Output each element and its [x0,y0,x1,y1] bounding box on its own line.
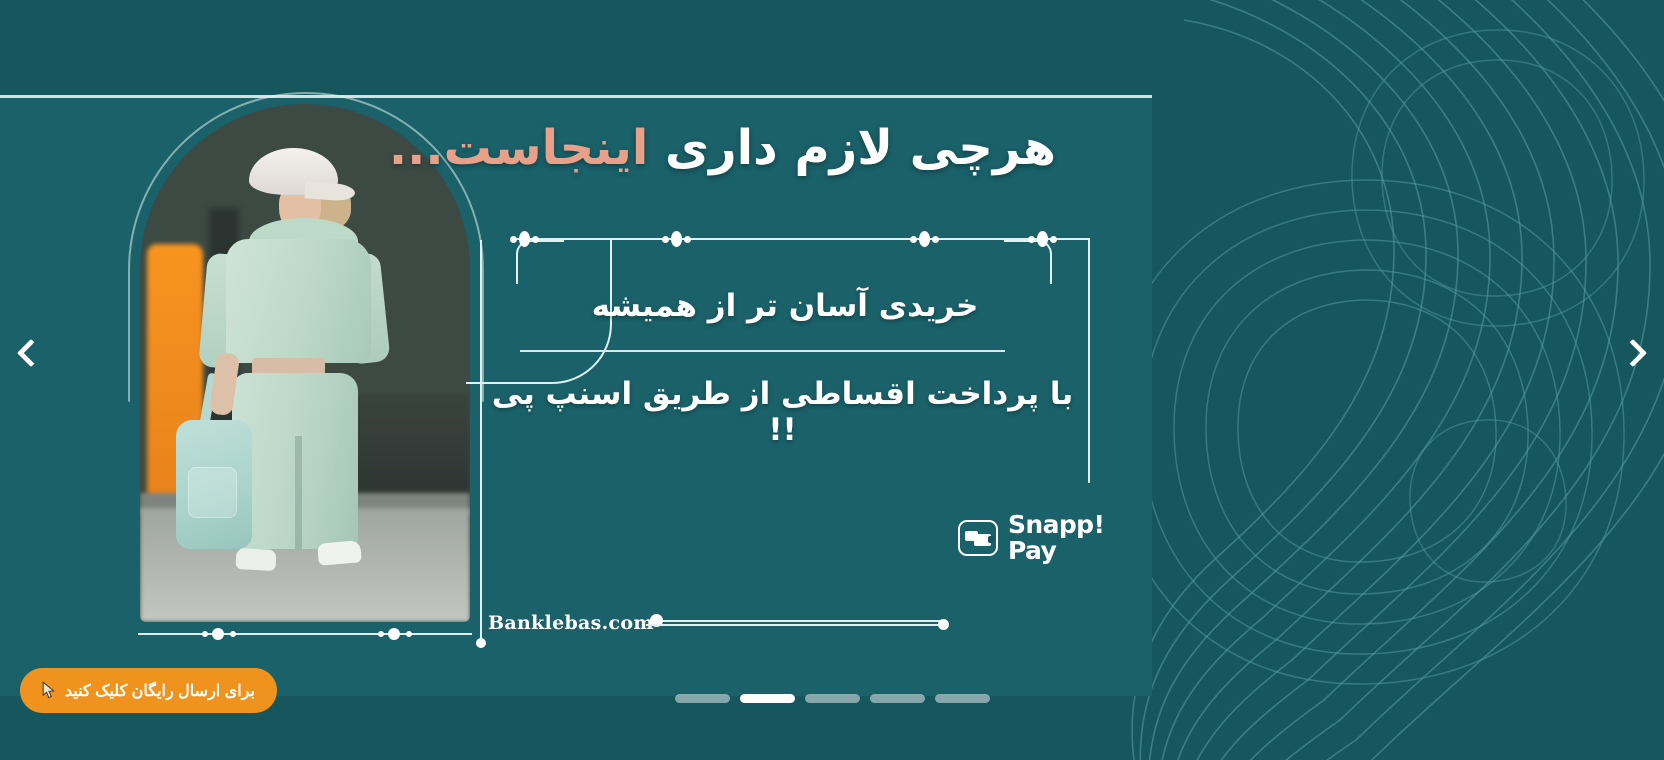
image-ruler [138,633,472,635]
site-name-rule-dot [938,619,949,630]
wallet-icon [958,520,998,556]
pagination-pill[interactable] [805,694,860,703]
free-shipping-cta-button[interactable]: برای ارسال رایگان کلیک کنید [20,668,277,713]
headline-accent: اینجاست... [389,120,648,176]
pagination-pill-active[interactable] [740,694,795,703]
pagination-pill[interactable] [935,694,990,703]
product-image [140,104,470,622]
snapp-pay-logo: Snapp! Pay [958,512,1104,563]
pagination-pill[interactable] [870,694,925,703]
panel-top-rule [0,95,1152,98]
pagination-pill[interactable] [675,694,730,703]
text-divider [520,350,1005,352]
carousel-pagination [0,694,1664,703]
headline-main: هرچی لازم داری [665,120,1056,176]
subheading-secondary: با پرداخت اقساطی از طریق اسنپ پی !! [490,376,1075,448]
carousel-next-button[interactable] [1610,330,1656,376]
topographic-pattern [1064,0,1664,760]
subheading-primary: خریدی آسان تر از همیشه [500,288,1070,324]
snapp-brand-product: Pay [1008,538,1104,563]
site-name-rule [646,624,946,626]
site-name: Banklebas.com [488,612,654,634]
hero-banner: هرچی لازم داری اینجاست... خریدی آسان تر … [0,0,1664,760]
chevron-left-icon [17,339,45,367]
snapp-brand-name: Snapp! [1008,510,1104,539]
page-title: هرچی لازم داری اینجاست... [456,118,1056,178]
chevron-right-icon [1619,339,1647,367]
carousel-prev-button[interactable] [8,330,54,376]
model-figure [140,104,470,622]
